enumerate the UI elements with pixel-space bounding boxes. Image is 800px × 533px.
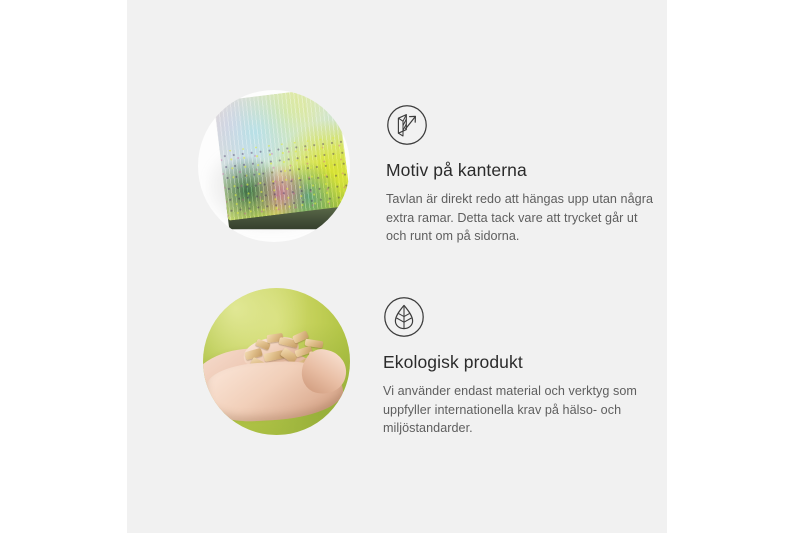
canvas-wrapped-edge-icon bbox=[386, 104, 428, 146]
canvas-print-product-photo bbox=[198, 90, 350, 242]
canvas-print-object bbox=[214, 90, 350, 242]
canvas-scene-background bbox=[198, 90, 350, 242]
feature-text-block: Motiv på kanterna Tavlan är direkt redo … bbox=[386, 90, 654, 246]
content-panel bbox=[127, 0, 667, 533]
feature-description: Vi använder endast material och verktyg … bbox=[383, 382, 651, 438]
leaf-icon bbox=[383, 296, 425, 338]
feature-row-ekologisk-produkt: Ekologisk produkt Vi använder endast mat… bbox=[203, 288, 651, 438]
eco-wood-chips-photo bbox=[203, 288, 350, 435]
feature-text-block: Ekologisk produkt Vi använder endast mat… bbox=[383, 288, 651, 438]
feature-title: Motiv på kanterna bbox=[386, 160, 654, 181]
canvas-front-face bbox=[214, 90, 350, 221]
feature-description: Tavlan är direkt redo att hängas upp uta… bbox=[386, 190, 654, 246]
feature-row-motiv-pa-kanterna: Motiv på kanterna Tavlan är direkt redo … bbox=[198, 90, 654, 246]
feature-title: Ekologisk produkt bbox=[383, 352, 651, 373]
product-feature-infographic: Motiv på kanterna Tavlan är direkt redo … bbox=[0, 0, 800, 533]
